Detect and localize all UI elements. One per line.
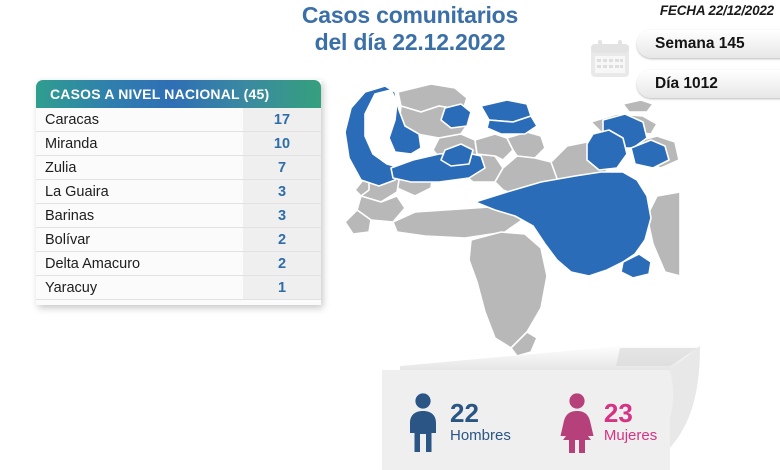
venezuela-map [335, 76, 680, 361]
infographic-root: Casos comunitarios del día 22.12.2022 FE… [0, 0, 780, 470]
table-cell-state: Zulia [36, 156, 243, 179]
table-cell-value: 17 [243, 108, 321, 131]
page-title: Casos comunitarios del día 22.12.2022 [255, 2, 565, 56]
table-row: Bolívar 2 [36, 228, 321, 252]
male-count: 22 [450, 400, 511, 426]
table-row: Barinas 3 [36, 204, 321, 228]
table-row: Caracas 17 [36, 108, 321, 132]
table-footer-strip [36, 300, 321, 305]
table-cell-value: 3 [243, 180, 321, 203]
semana-badge-label: Semana 145 [655, 35, 745, 53]
table-row: Yaracuy 1 [36, 276, 321, 300]
table-row: La Guaira 3 [36, 180, 321, 204]
table-header: CASOS A NIVEL NACIONAL (45) [36, 80, 321, 108]
table-cell-value: 2 [243, 228, 321, 251]
page-title-line2: del día 22.12.2022 [255, 29, 565, 56]
male-figure-icon [405, 392, 441, 454]
table-cell-state: Delta Amacuro [36, 252, 243, 275]
page-title-line1: Casos comunitarios [255, 2, 565, 29]
male-label: Hombres [450, 426, 511, 446]
table-cell-state: La Guaira [36, 180, 243, 203]
table-cell-state: Caracas [36, 108, 243, 131]
table-cell-state: Miranda [36, 132, 243, 155]
table-cell-value: 3 [243, 204, 321, 227]
female-figure-icon [559, 392, 595, 454]
table-row: Zulia 7 [36, 156, 321, 180]
table-cell-state: Bolívar [36, 228, 243, 251]
national-cases-table: CASOS A NIVEL NACIONAL (45) Caracas 17 M… [36, 80, 321, 305]
table-cell-value: 7 [243, 156, 321, 179]
semana-badge[interactable]: Semana 145 [637, 30, 780, 58]
gender-summary: 22 Hombres 23 Mujeres [405, 392, 657, 454]
table-cell-value: 2 [243, 252, 321, 275]
female-count: 23 [604, 400, 657, 426]
table-cell-value: 1 [243, 276, 321, 299]
table-row: Miranda 10 [36, 132, 321, 156]
table-cell-state: Yaracuy [36, 276, 243, 299]
female-stat: 23 Mujeres [559, 392, 657, 454]
table-cell-value: 10 [243, 132, 321, 155]
fecha-label: FECHA 22/12/2022 [660, 3, 774, 18]
table-row: Delta Amacuro 2 [36, 252, 321, 276]
calendar-icon [588, 38, 632, 80]
table-cell-state: Barinas [36, 204, 243, 227]
male-stat: 22 Hombres [405, 392, 511, 454]
female-label: Mujeres [604, 426, 657, 446]
